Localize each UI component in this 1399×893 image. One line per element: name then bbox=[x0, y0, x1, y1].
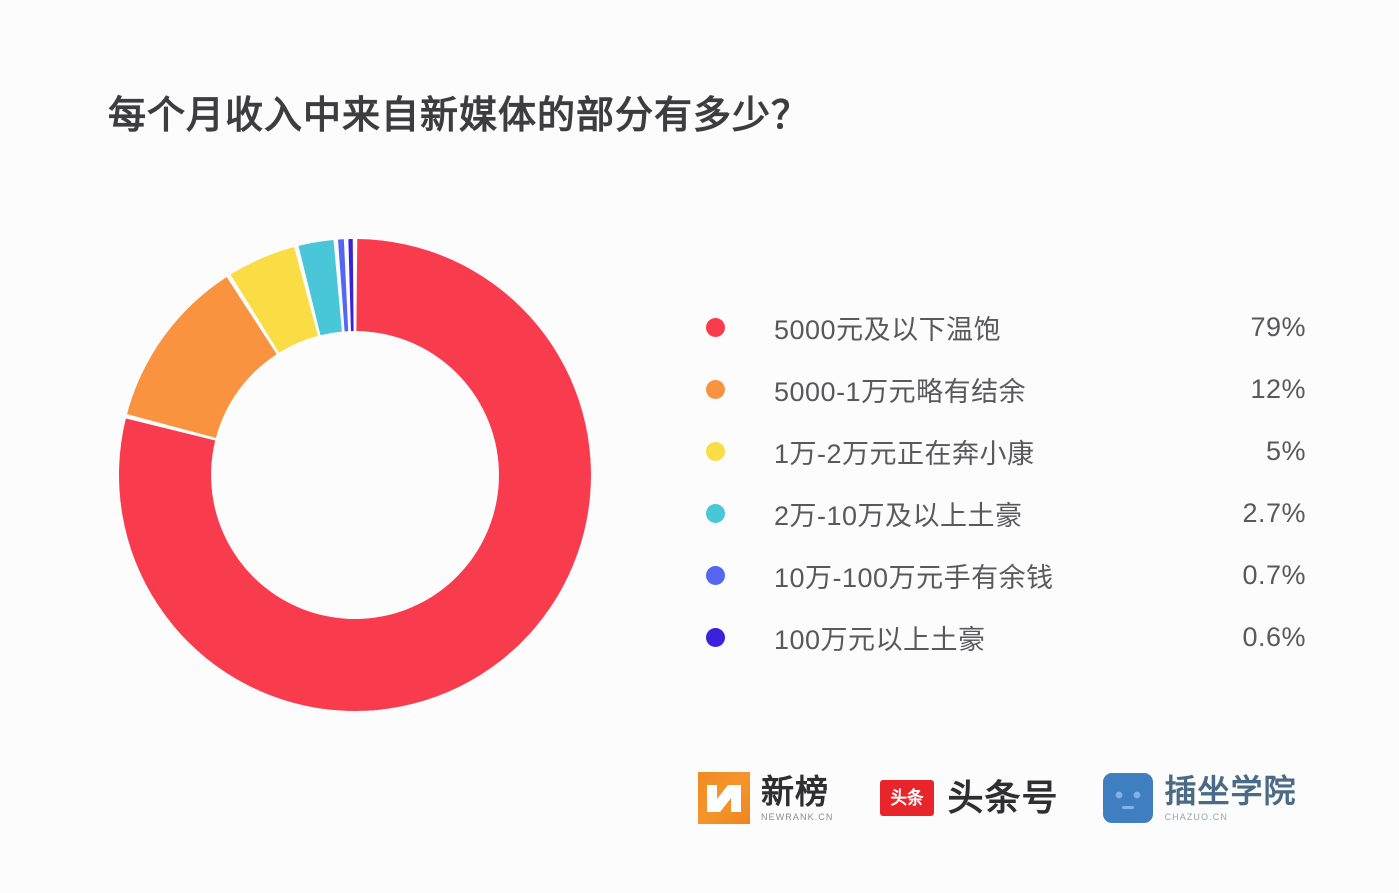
legend-item-label: 2万-10万及以上土豪 bbox=[774, 494, 1188, 533]
chart-page: 每个月收入中来自新媒体的部分有多少？ 5000元及以下温饱79%5000-1万元… bbox=[0, 0, 1399, 893]
legend-color-swatch-icon bbox=[706, 318, 725, 337]
donut-slice-group bbox=[119, 239, 591, 711]
legend-item-label: 10万-100万元手有余钱 bbox=[774, 556, 1188, 595]
logo-chazuo: 插坐学院 CHAZUO.CN bbox=[1103, 773, 1297, 823]
donut-chart-svg bbox=[118, 238, 592, 712]
chazuo-mark-icon bbox=[1103, 773, 1153, 823]
legend-item-label: 5000-1万元略有结余 bbox=[774, 370, 1188, 409]
legend-color-swatch-icon bbox=[706, 380, 725, 399]
legend-color-swatch-icon bbox=[706, 504, 725, 523]
legend-item-value: 12% bbox=[1188, 374, 1306, 405]
legend-item-label: 100万元以上土豪 bbox=[774, 618, 1188, 657]
legend-item-value: 0.7% bbox=[1188, 560, 1306, 591]
legend-item-value: 5% bbox=[1188, 436, 1306, 467]
legend-item[interactable]: 5000-1万元略有结余12% bbox=[706, 358, 1306, 420]
donut-chart bbox=[118, 238, 592, 712]
legend-item[interactable]: 1万-2万元正在奔小康5% bbox=[706, 420, 1306, 482]
newrank-mark-icon bbox=[698, 772, 750, 824]
legend-item[interactable]: 10万-100万元手有余钱0.7% bbox=[706, 544, 1306, 606]
legend-color-swatch-icon bbox=[706, 442, 725, 461]
page-title: 每个月收入中来自新媒体的部分有多少？ bbox=[108, 84, 810, 139]
toutiao-badge-label: 头条 bbox=[890, 789, 923, 807]
legend-item-value: 0.6% bbox=[1188, 622, 1306, 653]
legend-color-swatch-icon bbox=[706, 566, 725, 585]
chazuo-cn-label: 插坐学院 bbox=[1165, 775, 1297, 807]
legend-item-label: 1万-2万元正在奔小康 bbox=[774, 432, 1188, 471]
chazuo-text: 插坐学院 CHAZUO.CN bbox=[1165, 775, 1297, 822]
logo-newrank: 新榜 NEWRANK.CN bbox=[698, 772, 834, 824]
footer-logos: 新榜 NEWRANK.CN 头条 头条号 插坐学院 CHAZUO.CN bbox=[698, 772, 1297, 824]
logo-toutiaohao: 头条 头条号 bbox=[880, 780, 1059, 816]
toutiao-badge-icon: 头条 bbox=[880, 780, 934, 816]
legend-item[interactable]: 100万元以上土豪0.6% bbox=[706, 606, 1306, 668]
legend-item[interactable]: 5000元及以下温饱79% bbox=[706, 296, 1306, 358]
toutiaohao-cn-label: 头条号 bbox=[948, 780, 1059, 816]
newrank-en-label: NEWRANK.CN bbox=[761, 812, 834, 822]
chazuo-en-label: CHAZUO.CN bbox=[1165, 812, 1297, 822]
newrank-text: 新榜 NEWRANK.CN bbox=[761, 775, 834, 822]
legend-item[interactable]: 2万-10万及以上土豪2.7% bbox=[706, 482, 1306, 544]
chart-legend: 5000元及以下温饱79%5000-1万元略有结余12%1万-2万元正在奔小康5… bbox=[706, 296, 1306, 668]
newrank-cn-label: 新榜 bbox=[761, 775, 834, 808]
legend-item-label: 5000元及以下温饱 bbox=[774, 308, 1188, 347]
donut-slice[interactable] bbox=[348, 239, 353, 331]
legend-color-swatch-icon bbox=[706, 628, 725, 647]
legend-item-value: 2.7% bbox=[1188, 498, 1306, 529]
legend-item-value: 79% bbox=[1188, 312, 1306, 343]
